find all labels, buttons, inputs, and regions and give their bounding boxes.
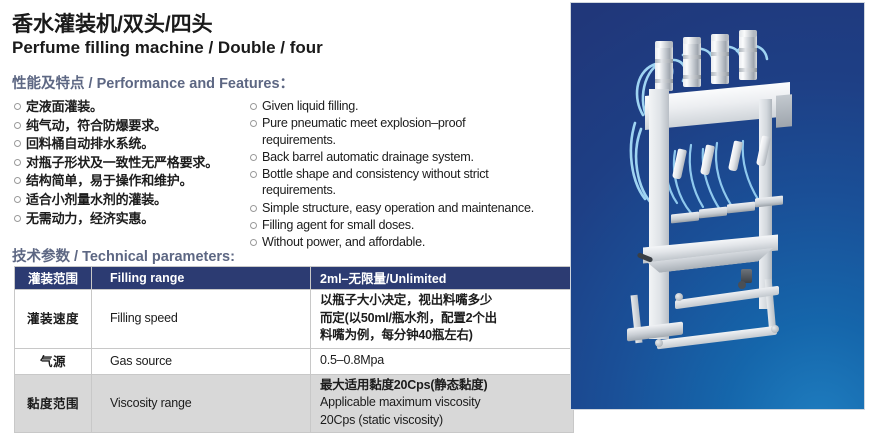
manifold-side bbox=[776, 94, 792, 128]
circle-bullet-icon bbox=[250, 171, 257, 178]
feature-text-line: Simple structure, easy operation and mai… bbox=[262, 200, 534, 216]
feature-item: Filling agent for small doses. bbox=[250, 217, 550, 233]
parameter-value-text: 0.5–0.8Mpa bbox=[320, 352, 573, 370]
features-list-english: Given liquid filling.Pure pneumatic meet… bbox=[250, 98, 550, 252]
parameter-label-english: Filling speed bbox=[92, 290, 311, 349]
header-label-chinese-text: 灌装范围 bbox=[28, 272, 78, 286]
feature-text: 无需动力，经济实惠。 bbox=[26, 210, 154, 228]
regulator-knob bbox=[738, 281, 746, 289]
parameter-value: 0.5–0.8Mpa bbox=[311, 348, 574, 374]
parameter-label-english: Gas source bbox=[92, 348, 311, 374]
header-value-text: 2ml–无限量/Unlimited bbox=[320, 272, 446, 286]
feature-item: 纯气动，符合防爆要求。 bbox=[14, 117, 254, 135]
perfume-filling-machine-photo bbox=[570, 2, 865, 410]
header-label-english: Filling range bbox=[92, 267, 311, 290]
circle-bullet-icon bbox=[14, 122, 21, 129]
parameter-label-english-text: Filling speed bbox=[110, 311, 178, 325]
circle-bullet-icon bbox=[250, 120, 257, 127]
caster-wheel bbox=[655, 339, 663, 347]
circle-bullet-icon bbox=[14, 103, 21, 110]
feature-text: Bottle shape and consistency without str… bbox=[262, 166, 489, 199]
parameter-label-chinese-text: 黏度范围 bbox=[27, 397, 79, 411]
metering-cylinder bbox=[711, 38, 729, 84]
product-spec-sheet: 香水灌装机/双头/四头 Perfume filling machine / Do… bbox=[0, 0, 873, 424]
parameter-value-text: 以瓶子大小决定，视出料嘴多少而定(以50ml/瓶水剂，配置2个出料嘴为例，每分钟… bbox=[320, 292, 573, 345]
feature-item: Pure pneumatic meet explosion–proofrequi… bbox=[250, 115, 550, 148]
parameter-value-text: 最大适用黏度20Cps(静态黏度)Applicable maximum visc… bbox=[320, 377, 573, 430]
feature-text: 定液面灌装。 bbox=[26, 98, 103, 116]
feature-text: 结构简单，易于操作和维护。 bbox=[26, 172, 192, 190]
feature-item: 结构简单，易于操作和维护。 bbox=[14, 172, 254, 190]
features-section-heading: 性能及特点 / Performance and Features： bbox=[12, 72, 294, 93]
parameter-value-line: 20Cps (static viscosity) bbox=[320, 412, 573, 430]
circle-bullet-icon bbox=[250, 154, 257, 161]
parameter-value-line: 而定(以50ml/瓶水剂，配置2个出 bbox=[320, 310, 573, 328]
caster-wheel bbox=[675, 293, 683, 301]
parameter-label-chinese: 灌装速度 bbox=[15, 290, 92, 349]
feature-text-line: Given liquid filling. bbox=[262, 98, 358, 114]
parameter-value-line: Applicable maximum viscosity bbox=[320, 394, 573, 412]
feature-text: Filling agent for small doses. bbox=[262, 217, 414, 233]
feature-text: 适合小剂量水剂的灌装。 bbox=[26, 191, 167, 209]
parameter-value-line: 料嘴为例，每分钟40瓶左右) bbox=[320, 327, 573, 345]
feature-item: Given liquid filling. bbox=[250, 98, 550, 114]
feature-item: Without power, and affordable. bbox=[250, 234, 550, 250]
metering-cylinder bbox=[683, 41, 701, 87]
feature-item: 回料桶自动排水系统。 bbox=[14, 135, 254, 153]
metering-cylinder bbox=[739, 34, 757, 80]
feature-item: 对瓶子形状及一致性无严格要求。 bbox=[14, 154, 254, 172]
table-row: 灌装速度Filling speed以瓶子大小决定，视出料嘴多少而定(以50ml/… bbox=[15, 290, 574, 349]
feature-text-line: requirements. bbox=[262, 132, 465, 148]
feature-text-line: Filling agent for small doses. bbox=[262, 217, 414, 233]
header-label-chinese: 灌装范围 bbox=[15, 267, 92, 290]
feature-text-line: Bottle shape and consistency without str… bbox=[262, 166, 489, 182]
table-row: 气源Gas source0.5–0.8Mpa bbox=[15, 348, 574, 374]
circle-bullet-icon bbox=[250, 239, 257, 246]
metering-cylinder bbox=[655, 45, 673, 91]
specification-text-panel: 香水灌装机/双头/四头 Perfume filling machine / Do… bbox=[0, 0, 562, 424]
circle-bullet-icon bbox=[250, 205, 257, 212]
parameter-value-line: 最大适用黏度20Cps(静态黏度) bbox=[320, 377, 573, 395]
feature-item: Simple structure, easy operation and mai… bbox=[250, 200, 550, 216]
circle-bullet-icon bbox=[14, 196, 21, 203]
feature-text: Simple structure, easy operation and mai… bbox=[262, 200, 534, 216]
circle-bullet-icon bbox=[14, 159, 21, 166]
feature-text: Pure pneumatic meet explosion–proofrequi… bbox=[262, 115, 465, 148]
parameter-value-line: 以瓶子大小决定，视出料嘴多少 bbox=[320, 292, 573, 310]
circle-bullet-icon bbox=[14, 140, 21, 147]
circle-bullet-icon bbox=[250, 222, 257, 229]
feature-text-line: requirements. bbox=[262, 182, 489, 198]
parameters-section-heading: 技术参数 / Technical parameters: bbox=[12, 245, 235, 266]
table-header-row: 灌装范围Filling range2ml–无限量/Unlimited bbox=[15, 267, 574, 290]
feature-text: 纯气动，符合防爆要求。 bbox=[26, 117, 167, 135]
parameter-label-chinese-text: 气源 bbox=[40, 355, 66, 369]
header-value: 2ml–无限量/Unlimited bbox=[311, 267, 574, 290]
feature-item: 定液面灌装。 bbox=[14, 98, 254, 116]
circle-bullet-icon bbox=[14, 177, 21, 184]
features-list-chinese: 定液面灌装。纯气动，符合防爆要求。回料桶自动排水系统。对瓶子形状及一致性无严格要… bbox=[14, 98, 254, 228]
feature-item: 无需动力，经济实惠。 bbox=[14, 210, 254, 228]
feature-text-line: Without power, and affordable. bbox=[262, 234, 425, 250]
feature-text-line: Back barrel automatic drainage system. bbox=[262, 149, 474, 165]
feature-item: Bottle shape and consistency without str… bbox=[250, 166, 550, 199]
feature-text: 回料桶自动排水系统。 bbox=[26, 135, 154, 153]
parameter-label-chinese: 气源 bbox=[15, 348, 92, 374]
product-title-english: Perfume filling machine / Double / four bbox=[12, 38, 323, 58]
feature-item: 适合小剂量水剂的灌装。 bbox=[14, 191, 254, 209]
caster-wheel bbox=[771, 325, 779, 333]
feature-item: Back barrel automatic drainage system. bbox=[250, 149, 550, 165]
technical-parameters-table: 灌装范围Filling range2ml–无限量/Unlimited灌装速度Fi… bbox=[14, 266, 574, 433]
feature-text: Back barrel automatic drainage system. bbox=[262, 149, 474, 165]
parameter-value-line: 0.5–0.8Mpa bbox=[320, 352, 573, 370]
product-title-chinese: 香水灌装机/双头/四头 bbox=[12, 8, 213, 38]
feature-text: 对瓶子形状及一致性无严格要求。 bbox=[26, 154, 218, 172]
parameter-label-english-text: Gas source bbox=[110, 354, 172, 368]
header-label-english-text: Filling range bbox=[110, 271, 184, 285]
feature-text-line: Pure pneumatic meet explosion–proof bbox=[262, 115, 465, 131]
parameter-label-english-text: Viscosity range bbox=[110, 396, 192, 410]
circle-bullet-icon bbox=[250, 103, 257, 110]
feature-text: Without power, and affordable. bbox=[262, 234, 425, 250]
main-column bbox=[649, 89, 669, 339]
feature-text: Given liquid filling. bbox=[262, 98, 358, 114]
parameter-label-chinese-text: 灌装速度 bbox=[27, 312, 79, 326]
parameter-value: 以瓶子大小决定，视出料嘴多少而定(以50ml/瓶水剂，配置2个出料嘴为例，每分钟… bbox=[311, 290, 574, 349]
circle-bullet-icon bbox=[14, 215, 21, 222]
